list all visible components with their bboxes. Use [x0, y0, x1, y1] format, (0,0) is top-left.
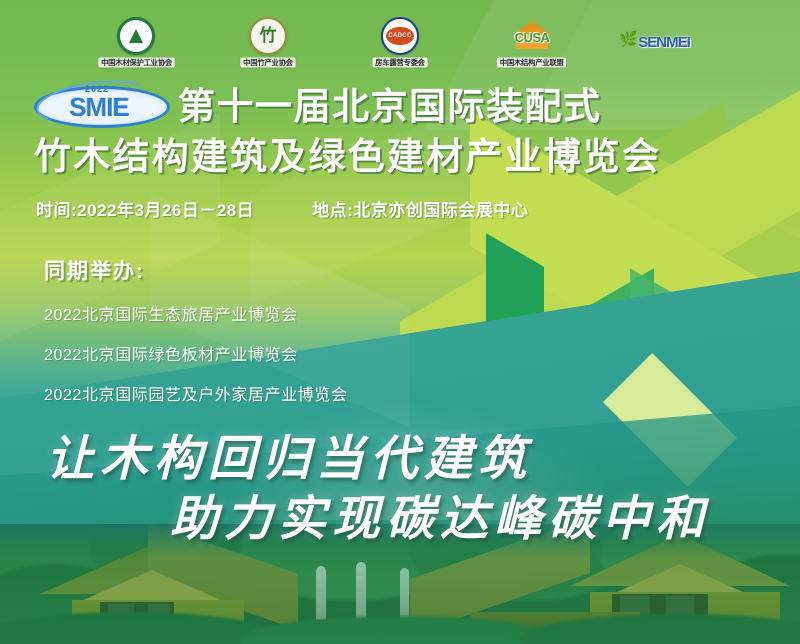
- sponsor-logo-2-caption: 中国竹产业协会: [240, 57, 295, 67]
- sponsor-logo-4-mark: CUSA: [506, 30, 558, 45]
- sponsor-logo-1-caption: 中国木材保护工业协会: [98, 57, 174, 67]
- house-cusa-icon: CUSA: [501, 17, 563, 55]
- sponsor-logo-3-caption: 房车露营专委会: [372, 57, 427, 67]
- page-title-line-2: 竹木结构建筑及绿色建材产业博览会: [34, 134, 800, 180]
- senmei-glyph: 🌿 SENMEI: [618, 27, 710, 57]
- page-title-line-1: 第十一届北京国际装配式: [178, 84, 602, 130]
- title-first-row: 2022 SMIE 第十一届北京国际装配式: [34, 82, 800, 132]
- house-glyph: CUSA: [506, 21, 558, 51]
- senmei-leaf-icon: 🌿 SENMEI: [618, 23, 710, 61]
- concurrent-event-item-1: 2022北京国际生态旅居产业博览会: [44, 301, 800, 325]
- expo-poster: 中国木材保护工业协会 竹 中国竹产业协会 CADCC 房车露营专委会 CUSA …: [0, 0, 800, 644]
- sponsor-logo-5-mark: SENMEI: [638, 34, 690, 51]
- cadcc-badge-icon: CADCC: [381, 17, 419, 55]
- concurrent-event-item-3: 2022北京国际园艺及户外家居产业博览会: [44, 381, 800, 405]
- event-venue: 地点:北京亦创国际会展中心: [312, 196, 528, 221]
- sponsor-logo-4: CUSA 中国木结构产业联盟: [480, 17, 584, 68]
- event-date: 时间:2022年3月26日－28日: [36, 196, 254, 221]
- bamboo-circle-icon: 竹: [249, 17, 287, 55]
- event-info-row: 时间:2022年3月26日－28日 地点:北京亦创国际会展中心: [0, 196, 800, 221]
- leaf-glyph: 🌿: [619, 32, 638, 47]
- slogan-block: 让木构回归当代建筑 助力实现碳达峰碳中和: [0, 431, 800, 549]
- concurrent-event-item-2: 2022北京国际绿色板材产业博览会: [44, 341, 800, 365]
- sponsor-logo-3: CADCC 房车露营专委会: [348, 17, 452, 68]
- tree-glyph: [129, 29, 143, 43]
- sponsor-logo-3-mark: CADCC: [386, 27, 414, 45]
- smie-logo-text: SMIE: [34, 94, 164, 120]
- slogan-line-1: 让木构回归当代建筑: [0, 431, 800, 489]
- concurrent-events-heading: 同期举办:: [44, 255, 800, 285]
- sponsor-logo-5: 🌿 SENMEI: [612, 23, 716, 61]
- smie-logo: 2022 SMIE: [34, 82, 170, 132]
- sponsor-logo-4-caption: 中国木结构产业联盟: [497, 57, 566, 67]
- title-block: 2022 SMIE 第十一届北京国际装配式 竹木结构建筑及绿色建材产业博览会: [0, 82, 800, 180]
- concurrent-events-block: 同期举办: 2022北京国际生态旅居产业博览会 2022北京国际绿色板材产业博览…: [0, 255, 800, 405]
- sponsor-logo-2: 竹 中国竹产业协会: [216, 17, 320, 68]
- tree-circle-icon: [117, 17, 155, 55]
- sponsor-logo-1: 中国木材保护工业协会: [84, 17, 188, 68]
- slogan-line-2: 助力实现碳达峰碳中和: [0, 491, 800, 549]
- sponsor-logo-2-mark: 竹: [260, 27, 277, 44]
- sponsor-logo-strip: 中国木材保护工业协会 竹 中国竹产业协会 CADCC 房车露营专委会 CUSA …: [0, 0, 800, 78]
